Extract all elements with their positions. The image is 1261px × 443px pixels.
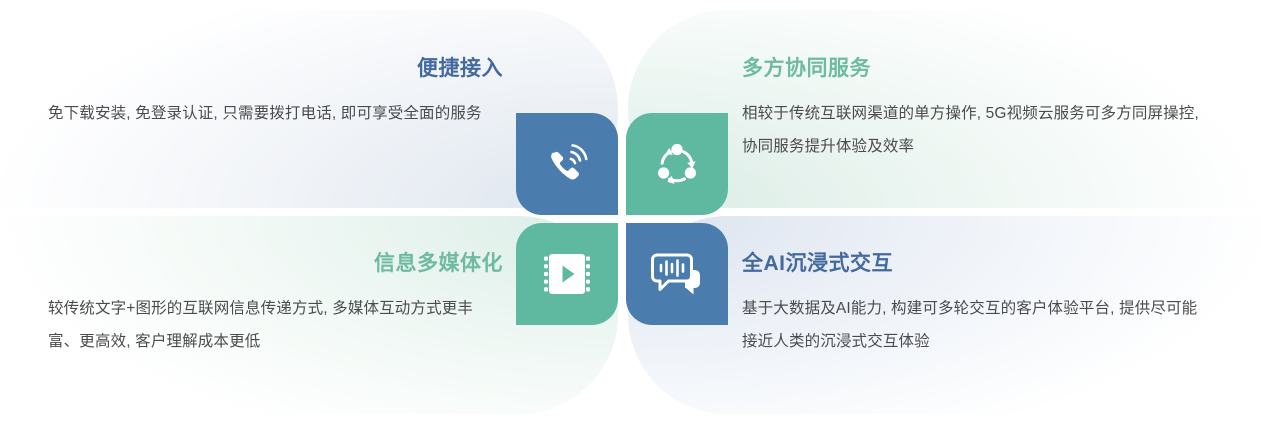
feature-description-convenient-access: 免下载安装, 免登录认证, 只需要拨打电话, 即可享受全面的服务	[48, 97, 503, 130]
feature-description-full-ai-immersive-interaction: 基于大数据及AI能力, 构建可多轮交互的客户体验平台, 提供尽可能接近人类的沉浸…	[742, 292, 1202, 358]
voice-chat-bubble-icon	[649, 248, 705, 300]
icon-tile-multi-party-collaboration[interactable]	[626, 113, 728, 215]
feature-title-full-ai-immersive-interaction: 全AI沉浸式交互	[742, 250, 1202, 278]
collaboration-cycle-icon	[650, 137, 704, 191]
feature-description-multimedia-information: 较传统文字+图形的互联网信息传递方式, 多媒体互动方式更丰富、更高效, 客户理解…	[48, 292, 503, 358]
icon-tile-multimedia-information[interactable]	[516, 223, 618, 325]
phone-call-icon	[540, 137, 594, 191]
icon-tile-full-ai-immersive-interaction[interactable]	[626, 223, 728, 325]
feature-grid-infographic: 便捷接入 免下载安装, 免登录认证, 只需要拨打电话, 即可享受全面的服务 多方…	[0, 0, 1261, 443]
feature-title-multimedia-information: 信息多媒体化	[48, 250, 503, 278]
icon-tile-convenient-access[interactable]	[516, 113, 618, 215]
feature-text-multi-party-collaboration: 多方协同服务 相较于传统互联网渠道的单方操作, 5G视频云服务可多方同屏操控, …	[742, 55, 1202, 163]
feature-text-full-ai-immersive-interaction: 全AI沉浸式交互 基于大数据及AI能力, 构建可多轮交互的客户体验平台, 提供尽…	[742, 250, 1202, 358]
feature-title-multi-party-collaboration: 多方协同服务	[742, 55, 1202, 83]
film-play-icon	[540, 248, 594, 300]
feature-title-convenient-access: 便捷接入	[48, 55, 503, 83]
feature-text-convenient-access: 便捷接入 免下载安装, 免登录认证, 只需要拨打电话, 即可享受全面的服务	[48, 55, 503, 130]
feature-description-multi-party-collaboration: 相较于传统互联网渠道的单方操作, 5G视频云服务可多方同屏操控, 协同服务提升体…	[742, 97, 1202, 163]
feature-text-multimedia-information: 信息多媒体化 较传统文字+图形的互联网信息传递方式, 多媒体互动方式更丰富、更高…	[48, 250, 503, 358]
feature-icon-cluster	[516, 113, 728, 325]
